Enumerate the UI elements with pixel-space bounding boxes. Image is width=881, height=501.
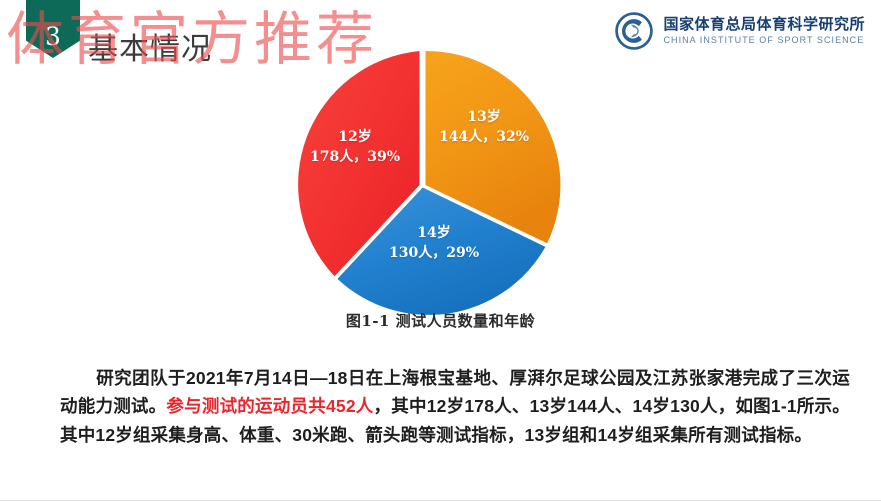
pie-chart: 12岁 178人，39% 13岁 144人，32% 14岁 130人，29% [252,46,592,324]
slide-canvas: 12岁 178人，39% 13岁 144人，32% 14岁 130人，29% 图… [0,0,881,501]
page-title: 基本情况 [88,24,212,68]
body-highlight: 参与测试的运动员共452人 [166,396,373,416]
institute-logo: 国家体育总局体育科学研究所 CHINA INSTITUTE OF SPORT S… [615,12,865,50]
body-paragraph: 研究团队于2021年7月14日—18日在上海根宝基地、厚湃尔足球公园及江苏张家港… [60,364,850,449]
sport-science-emblem-icon [615,12,653,50]
logo-text-block: 国家体育总局体育科学研究所 CHINA INSTITUTE OF SPORT S… [663,17,865,46]
figure-caption: 图1-1 测试人员数量和年龄 [0,310,881,331]
section-badge-number: 3 [26,22,80,51]
logo-name-cn: 国家体育总局体育科学研究所 [663,17,865,34]
pie-label-14: 14岁 130人，29% [364,224,504,264]
pie-label-12: 12岁 178人，39% [290,128,420,168]
pie-chart-svg [252,46,592,324]
pie-label-13: 13岁 144人，32% [418,108,550,148]
logo-name-en: CHINA INSTITUTE OF SPORT SCIENCE [663,35,865,45]
